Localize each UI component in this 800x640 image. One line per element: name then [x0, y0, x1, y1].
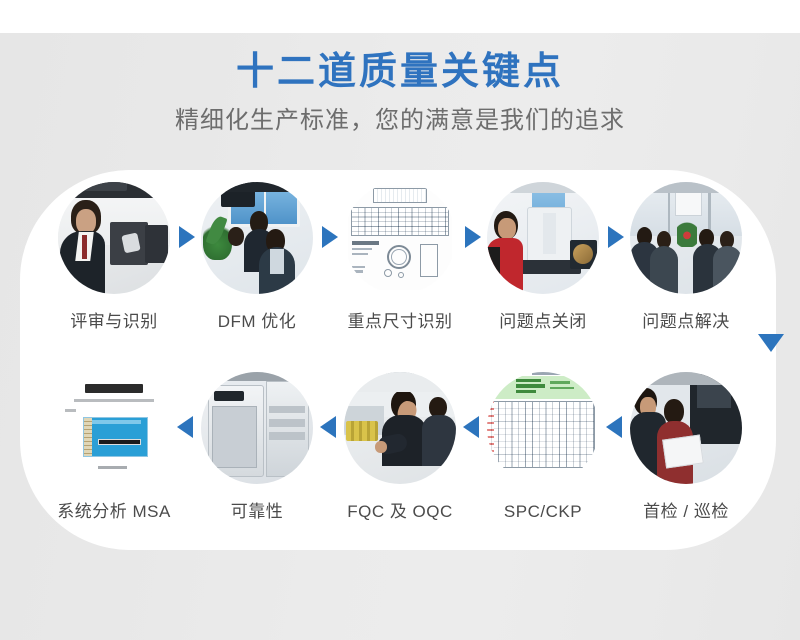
step-label: 评审与识别: [70, 310, 158, 334]
spc-control-chart-photo: [487, 372, 599, 484]
arrow-left-icon: [463, 416, 479, 438]
step-label: 可靠性: [231, 500, 284, 524]
measuring-machine-photo: [487, 182, 599, 294]
technical-drawing-photo: [344, 182, 456, 294]
flow-step-key-dimension-identification[interactable]: 重点尺寸识别: [329, 182, 472, 334]
step-label: FQC 及 OQC: [347, 500, 453, 524]
flow-step-issue-resolution[interactable]: 问题点解决: [615, 182, 758, 334]
step-label: 问题点关闭: [499, 310, 587, 334]
flow-step-dfm-optimization[interactable]: DFM 优化: [186, 182, 329, 334]
test-report-document-photo: [58, 372, 170, 484]
flow-row-1: 评审与识别 DFM 优化 重点尺寸识别: [0, 182, 800, 342]
arrow-left-icon: [320, 416, 336, 438]
infographic-page: 十二道质量关键点 精细化生产标准，您的满意是我们的追求 评审与识别 DFM 优化: [0, 0, 800, 640]
flow-step-spc-ckp[interactable]: SPC/CKP: [472, 372, 615, 524]
step-label: 重点尺寸识别: [348, 310, 453, 334]
step-label: SPC/CKP: [504, 500, 582, 524]
flow-step-msa-system-analysis[interactable]: 系统分析 MSA: [43, 372, 186, 524]
flow-step-issue-closure[interactable]: 问题点关闭: [472, 182, 615, 334]
page-subtitle: 精细化生产标准，您的满意是我们的追求: [0, 104, 800, 138]
meeting-room-photo: [630, 182, 742, 294]
step-label: 首检 / 巡检: [643, 500, 729, 524]
first-article-inspection-photo: [630, 372, 742, 484]
step-label: 问题点解决: [642, 310, 730, 334]
step-label: DFM 优化: [218, 310, 297, 334]
engineering-team-photo: [201, 182, 313, 294]
top-white-band: [0, 0, 800, 33]
man-at-computer-photo: [58, 182, 170, 294]
arrow-left-icon: [177, 416, 193, 438]
reliability-chamber-photo: [201, 372, 313, 484]
step-label: 系统分析 MSA: [57, 500, 171, 524]
flow-step-fqc-oqc[interactable]: FQC 及 OQC: [329, 372, 472, 524]
arrow-left-icon: [606, 416, 622, 438]
production-inspection-photo: [344, 372, 456, 484]
page-title: 十二道质量关键点: [0, 46, 800, 98]
flow-row-2: 系统分析 MSA 可靠性 FQC 及 OQC: [0, 372, 800, 532]
flow-step-review-identify[interactable]: 评审与识别: [43, 182, 186, 334]
flow-step-reliability[interactable]: 可靠性: [186, 372, 329, 524]
header: 十二道质量关键点 精细化生产标准，您的满意是我们的追求: [0, 46, 800, 138]
arrow-down-icon: [758, 334, 784, 352]
flow-step-first-article-patrol-inspection[interactable]: 首检 / 巡检: [615, 372, 758, 524]
